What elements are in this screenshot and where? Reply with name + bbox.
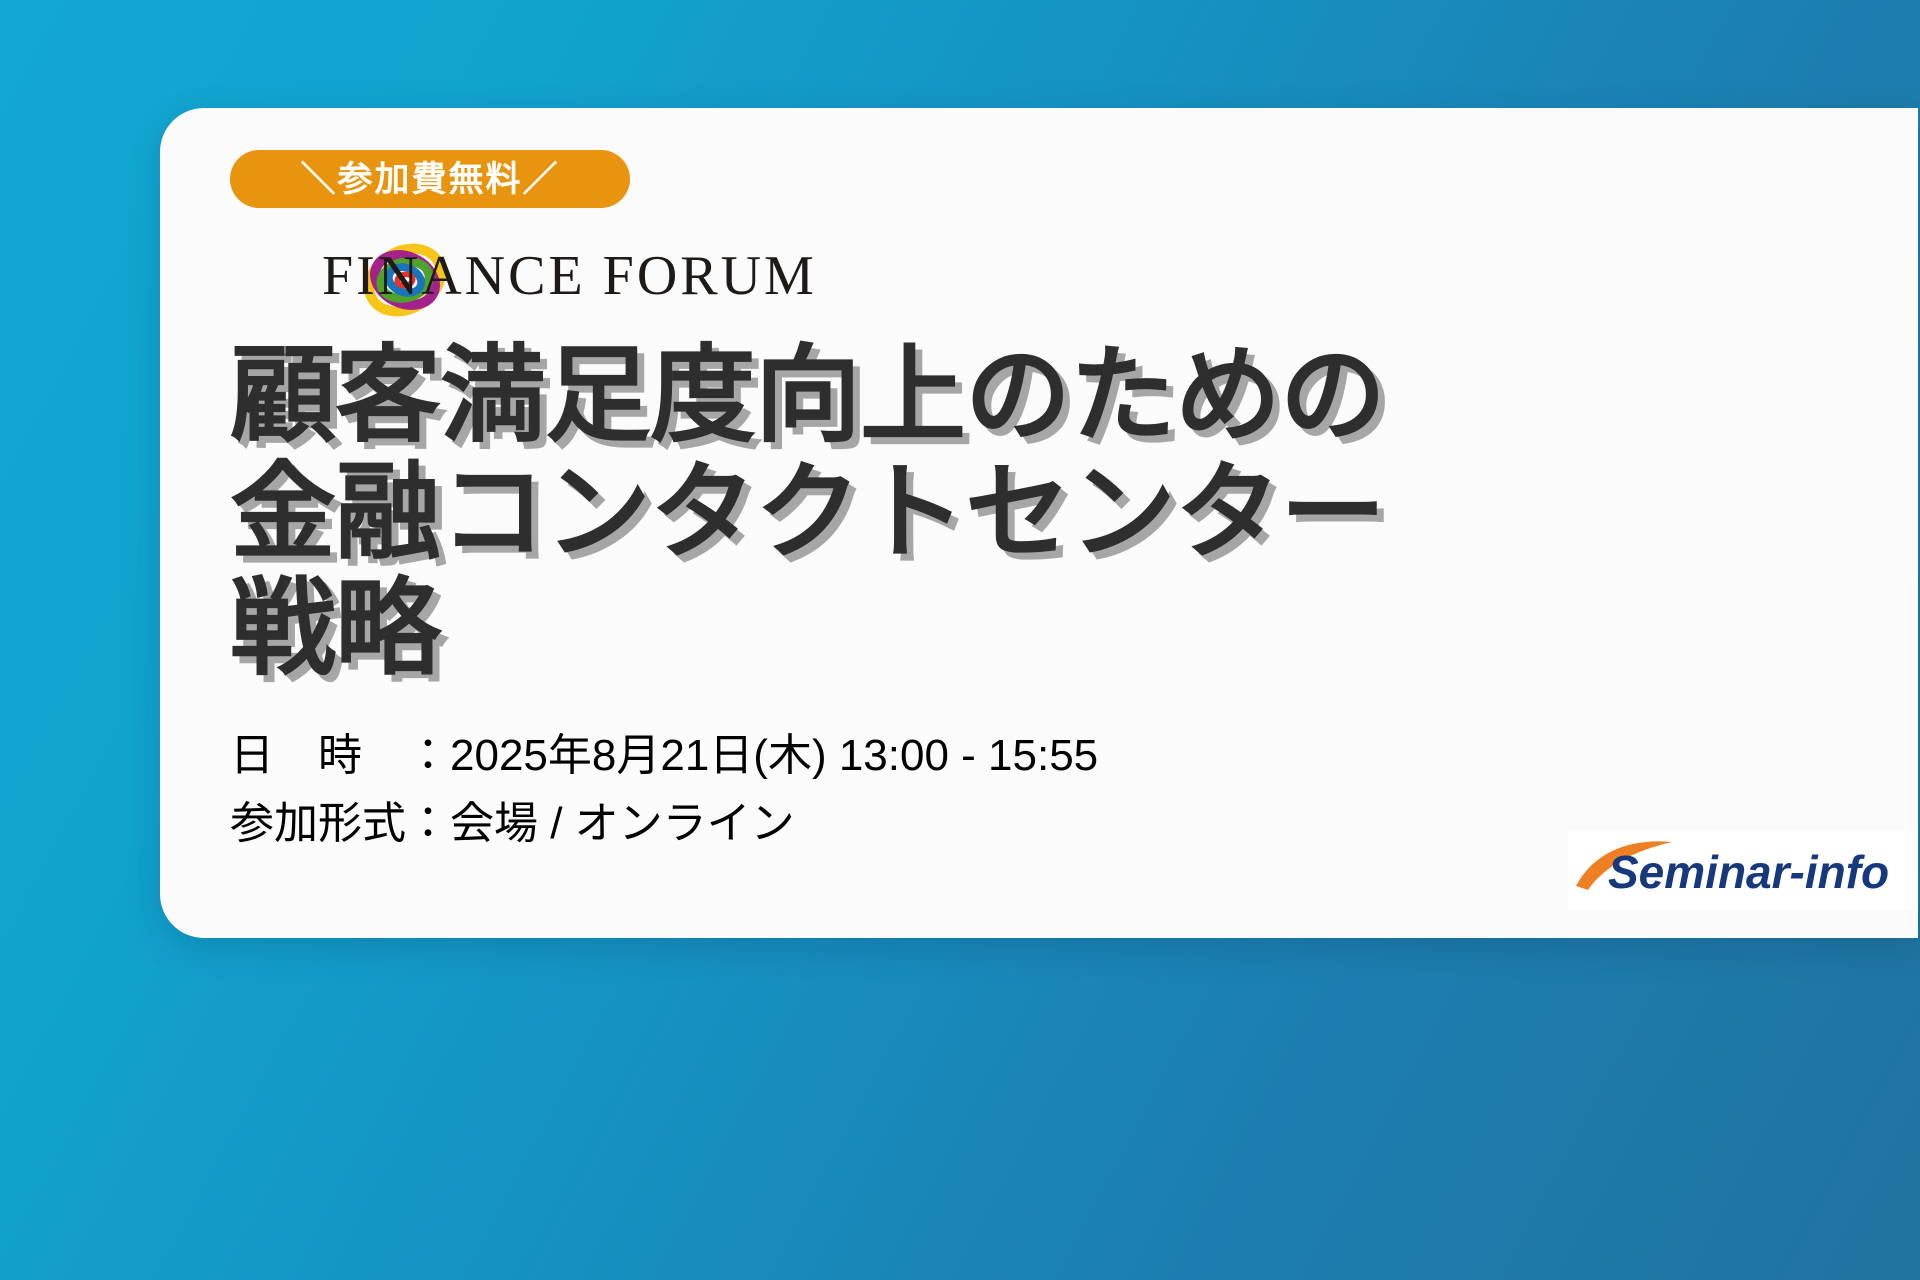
content-card: ＼参加費無料／ FINANCE FORUM [160,108,1918,938]
card-inner: ＼参加費無料／ FINANCE FORUM [230,150,1918,938]
svg-text:Seminar-info: Seminar-info [1608,846,1889,898]
title-line-3: 戦略 [230,571,1918,688]
page-title: 顧客満足度向上のための 金融コンタクトセンター 戦略 [230,338,1918,688]
finance-forum-wordmark: FINANCE FORUM [322,248,817,304]
finance-forum-spiral-icon [230,240,304,312]
seminar-info-logo: Seminar-info [1568,830,1918,910]
event-datetime: 日 時 ：2025年8月21日(木) 13:00 - 15:55 [230,722,1918,790]
title-line-2: 金融コンタクトセンター [230,455,1918,572]
free-admission-badge: ＼参加費無料／ [230,150,630,208]
title-line-1: 顧客満足度向上のための [230,338,1918,455]
seminar-banner: ＼参加費無料／ FINANCE FORUM [0,0,1920,1280]
finance-forum-logo: FINANCE FORUM [230,240,1918,312]
